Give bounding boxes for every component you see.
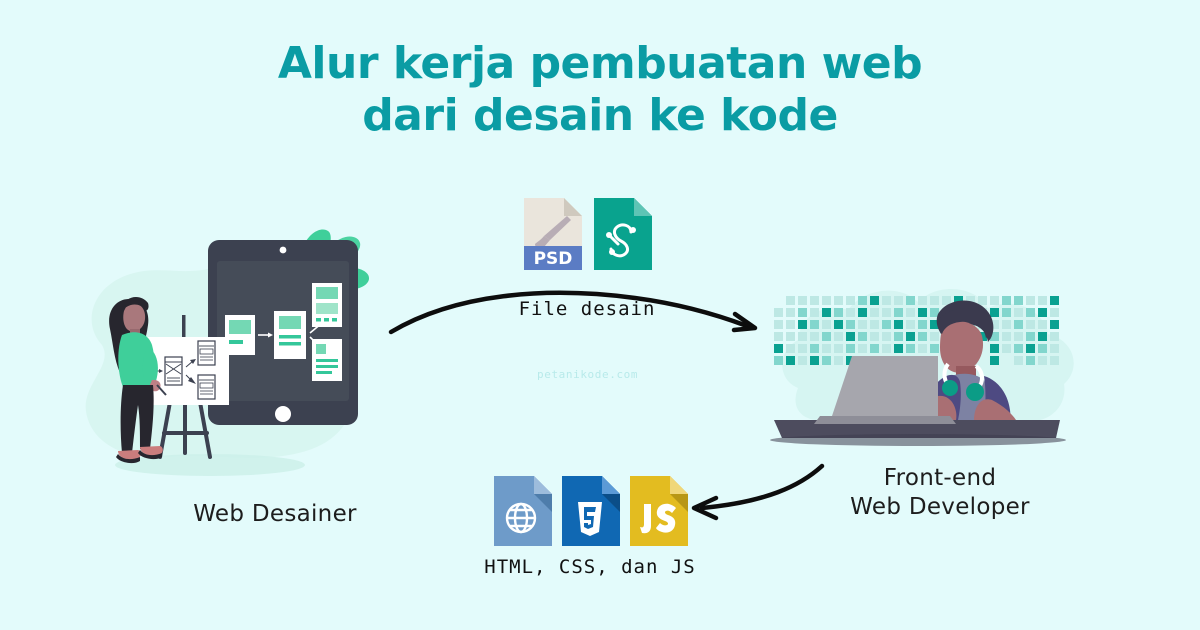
html-file-icon[interactable] xyxy=(494,476,552,546)
css-file-icon[interactable] xyxy=(562,476,620,546)
site-watermark: petanikode.com xyxy=(537,368,638,381)
infographic-canvas: Alur kerja pembuatan web dari desain ke … xyxy=(0,0,1200,630)
page-title: Alur kerja pembuatan web dari desain ke … xyxy=(0,38,1200,142)
developer-role-label: Front-end Web Developer xyxy=(790,464,1090,522)
web-designer-illustration xyxy=(60,225,400,495)
web-developer-illustration xyxy=(760,268,1100,468)
title-line-1: Alur kerja pembuatan web xyxy=(0,38,1200,90)
css3-shield-glyph xyxy=(578,502,602,536)
designer-role-label: Web Desainer xyxy=(130,500,420,529)
developer-role-line2: Web Developer xyxy=(790,493,1090,522)
js-file-icon[interactable] xyxy=(630,476,688,546)
tablet-device xyxy=(208,240,358,425)
developer-role-line1: Front-end xyxy=(790,464,1090,493)
code-files-label: HTML, CSS, dan JS xyxy=(470,556,710,578)
psd-label: PSD xyxy=(534,249,573,269)
sketch-file-icon[interactable] xyxy=(594,198,652,270)
title-line-2: dari desain ke kode xyxy=(0,90,1200,142)
psd-file-icon[interactable]: PSD xyxy=(524,198,582,270)
arrow-top-label: File desain xyxy=(472,298,702,320)
designer-role-text: Web Desainer xyxy=(193,501,357,527)
